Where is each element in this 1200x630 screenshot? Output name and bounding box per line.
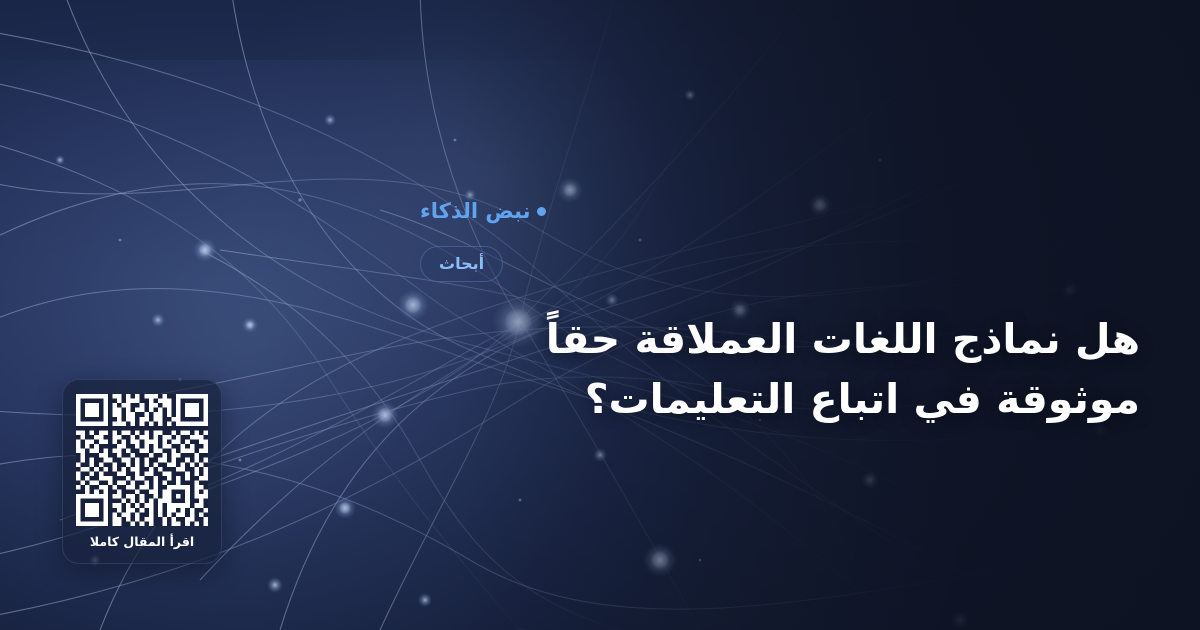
bullet-dot-icon — [537, 207, 546, 216]
qr-code-icon — [76, 394, 208, 526]
poster-content: نبض الذكاء أبحاث هل نماذج اللغات العملاق… — [420, 0, 1140, 630]
category-badge[interactable]: أبحاث — [420, 246, 503, 282]
qr-card[interactable]: اقرأ المقال كاملا — [62, 379, 222, 564]
brand-label: نبض الذكاء — [420, 201, 546, 222]
qr-card-caption: اقرأ المقال كاملا — [90, 536, 194, 549]
poster-canvas: اقرأ المقال كاملا نبض الذكاء أبحاث هل نم… — [0, 0, 1200, 630]
page-title: هل نماذج اللغات العملاقة حقاً موثوقة في … — [420, 310, 1140, 430]
brand-name: نبض الذكاء — [420, 201, 530, 222]
